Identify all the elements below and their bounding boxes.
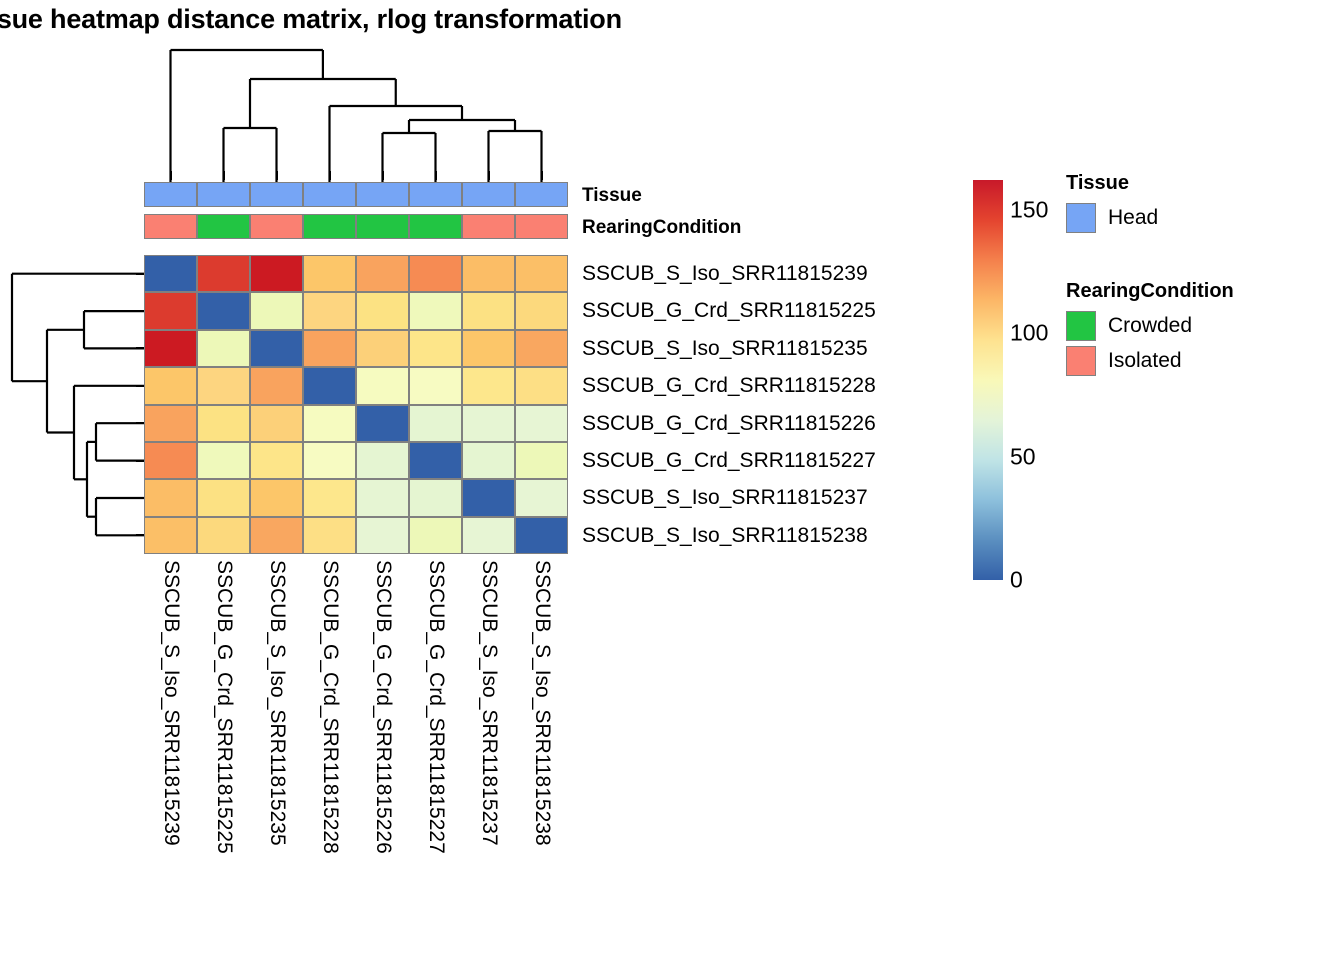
heatmap-cell: [356, 292, 409, 329]
legend-label: Crowded: [1108, 314, 1192, 338]
annotation-cell-rearing-condition: [197, 214, 250, 239]
heatmap-cell: [197, 405, 250, 442]
row-label-list: SSCUB_S_Iso_SRR11815239SSCUB_G_Crd_SRR11…: [582, 255, 876, 554]
heatmap-cell: [515, 292, 568, 329]
legend-label: Head: [1108, 206, 1158, 230]
annotation-cell-rearing-condition: [356, 214, 409, 239]
heatmap-matrix: [144, 255, 568, 554]
heatmap-cell: [250, 405, 303, 442]
heatmap-cell: [515, 255, 568, 292]
heatmap-cell: [250, 292, 303, 329]
column-label: SSCUB_G_Crd_SRR11815226: [371, 560, 395, 854]
heatmap-cell: [462, 255, 515, 292]
heatmap-cell: [356, 479, 409, 516]
col-tick: [435, 171, 437, 180]
heatmap-cell: [462, 442, 515, 479]
heatmap-cell: [197, 517, 250, 554]
column-label: SSCUB_G_Crd_SRR11815227: [424, 560, 448, 854]
heatmap-cell: [515, 479, 568, 516]
col-tick: [382, 171, 384, 180]
heatmap-cell: [462, 292, 515, 329]
column-label: SSCUB_G_Crd_SRR11815225: [212, 560, 236, 854]
annotation-cell-rearing-condition: [144, 214, 197, 239]
heatmap-cell: [197, 442, 250, 479]
heatmap-cell: [409, 330, 462, 367]
column-label-slot: SSCUB_G_Crd_SRR11815225: [197, 560, 250, 950]
column-label-list: SSCUB_S_Iso_SRR11815239SSCUB_G_Crd_SRR11…: [144, 560, 568, 950]
heatmap-cell: [462, 330, 515, 367]
heatmap-cell: [144, 255, 197, 292]
column-label-slot: SSCUB_G_Crd_SRR11815228: [303, 560, 356, 950]
colorbar-gradient: [973, 180, 1003, 580]
row-label: SSCUB_G_Crd_SRR11815228: [582, 367, 876, 404]
heatmap-cell: [197, 367, 250, 404]
annotation-cell-tissue: [356, 182, 409, 207]
row-label: SSCUB_S_Iso_SRR11815237: [582, 479, 876, 516]
legend-title-tissue: Tissue: [1066, 172, 1129, 195]
heatmap-cell: [250, 442, 303, 479]
heatmap-cell: [462, 367, 515, 404]
heatmap-cell: [144, 442, 197, 479]
annotation-cell-rearing-condition: [303, 214, 356, 239]
heatmap-cell: [409, 405, 462, 442]
heatmap-cell: [462, 479, 515, 516]
heatmap-cell: [515, 330, 568, 367]
heatmap-cell: [356, 442, 409, 479]
col-tick: [488, 171, 490, 180]
heatmap-cell: [462, 405, 515, 442]
heatmap-cell: [250, 330, 303, 367]
colorbar-tick-label: 150: [1010, 196, 1048, 223]
heatmap-cell: [515, 367, 568, 404]
col-tick: [541, 171, 543, 180]
colorbar-tick-label: 100: [1010, 320, 1048, 347]
annotation-cell-tissue: [303, 182, 356, 207]
row-label: SSCUB_G_Crd_SRR11815226: [582, 405, 876, 442]
row-label: SSCUB_S_Iso_SRR11815235: [582, 330, 876, 367]
heatmap-cell: [303, 330, 356, 367]
heatmap-cell: [303, 479, 356, 516]
legend-swatch: [1066, 203, 1096, 233]
heatmap-cell: [197, 330, 250, 367]
heatmap-cell: [515, 517, 568, 554]
heatmap-figure: ssue heatmap distance matrix, rlog trans…: [0, 0, 1344, 960]
heatmap-cell: [303, 405, 356, 442]
heatmap-cell: [144, 367, 197, 404]
legend-entry-tissue: Head: [1066, 203, 1158, 233]
column-label-slot: SSCUB_S_Iso_SRR11815237: [462, 560, 515, 950]
legend-title-rearing-condition: RearingCondition: [1066, 280, 1234, 303]
col-tick: [329, 171, 331, 180]
heatmap-cell: [250, 479, 303, 516]
legend-entry-rearing-condition: Isolated: [1066, 346, 1182, 376]
column-label: SSCUB_S_Iso_SRR11815239: [159, 560, 183, 846]
column-label-slot: SSCUB_S_Iso_SRR11815235: [250, 560, 303, 950]
page-title: ssue heatmap distance matrix, rlog trans…: [0, 4, 622, 35]
legend-swatch: [1066, 346, 1096, 376]
colorbar-tick-label: 0: [1010, 567, 1023, 594]
column-dendrogram: [144, 48, 568, 182]
annotation-cell-rearing-condition: [462, 214, 515, 239]
annotation-cell-tissue: [197, 182, 250, 207]
heatmap-cell: [303, 442, 356, 479]
annotation-cell-tissue: [250, 182, 303, 207]
heatmap-cell: [356, 330, 409, 367]
heatmap-cell: [144, 517, 197, 554]
heatmap-cell: [356, 517, 409, 554]
heatmap-cell: [409, 292, 462, 329]
column-label-slot: SSCUB_S_Iso_SRR11815239: [144, 560, 197, 950]
col-tick: [223, 171, 225, 180]
heatmap-cell: [303, 292, 356, 329]
heatmap-cell: [409, 367, 462, 404]
heatmap-cell: [144, 292, 197, 329]
annotation-title-rearing-condition: RearingCondition: [582, 217, 741, 239]
heatmap-cell: [197, 255, 250, 292]
row-label: SSCUB_G_Crd_SRR11815225: [582, 292, 876, 329]
column-label-slot: SSCUB_G_Crd_SRR11815226: [356, 560, 409, 950]
annotation-cell-tissue: [515, 182, 568, 207]
heatmap-cell: [197, 292, 250, 329]
row-dendrogram: [8, 255, 144, 554]
heatmap-cell: [303, 255, 356, 292]
heatmap-cell: [250, 367, 303, 404]
column-label-slot: SSCUB_S_Iso_SRR11815238: [515, 560, 568, 950]
annotation-cell-tissue: [409, 182, 462, 207]
heatmap-cell: [303, 517, 356, 554]
annotation-cell-rearing-condition: [250, 214, 303, 239]
annotation-cell-rearing-condition: [515, 214, 568, 239]
heatmap-cell: [409, 442, 462, 479]
annotation-cell-tissue: [462, 182, 515, 207]
heatmap-cell: [409, 479, 462, 516]
heatmap-cell: [356, 255, 409, 292]
annotation-bar-tissue: [144, 182, 568, 207]
column-label: SSCUB_S_Iso_SRR11815237: [477, 560, 501, 846]
heatmap-cell: [144, 405, 197, 442]
column-label-slot: SSCUB_G_Crd_SRR11815227: [409, 560, 462, 950]
legend-label: Isolated: [1108, 349, 1182, 373]
heatmap-cell: [197, 479, 250, 516]
heatmap-cell: [144, 330, 197, 367]
col-tick: [170, 171, 172, 180]
annotation-cell-rearing-condition: [409, 214, 462, 239]
heatmap-cell: [462, 517, 515, 554]
heatmap-cell: [409, 517, 462, 554]
column-label: SSCUB_S_Iso_SRR11815238: [530, 560, 554, 846]
col-tick: [276, 171, 278, 180]
legend-entry-rearing-condition: Crowded: [1066, 311, 1192, 341]
colorbar-tick-label: 50: [1010, 443, 1036, 470]
annotation-cell-tissue: [144, 182, 197, 207]
colorbar: [973, 180, 1003, 580]
heatmap-cell: [303, 367, 356, 404]
heatmap-cell: [409, 255, 462, 292]
heatmap-cell: [515, 405, 568, 442]
annotation-bar-rearing-condition: [144, 214, 568, 239]
column-label: SSCUB_S_Iso_SRR11815235: [265, 560, 289, 846]
column-label: SSCUB_G_Crd_SRR11815228: [318, 560, 342, 854]
heatmap-cell: [250, 517, 303, 554]
annotation-title-tissue: Tissue: [582, 185, 642, 207]
row-label: SSCUB_S_Iso_SRR11815239: [582, 255, 876, 292]
legend-swatch: [1066, 311, 1096, 341]
heatmap-cell: [144, 479, 197, 516]
heatmap-cell: [515, 442, 568, 479]
row-label: SSCUB_G_Crd_SRR11815227: [582, 442, 876, 479]
heatmap-cell: [250, 255, 303, 292]
row-label: SSCUB_S_Iso_SRR11815238: [582, 517, 876, 554]
heatmap-cell: [356, 405, 409, 442]
heatmap-cell: [356, 367, 409, 404]
